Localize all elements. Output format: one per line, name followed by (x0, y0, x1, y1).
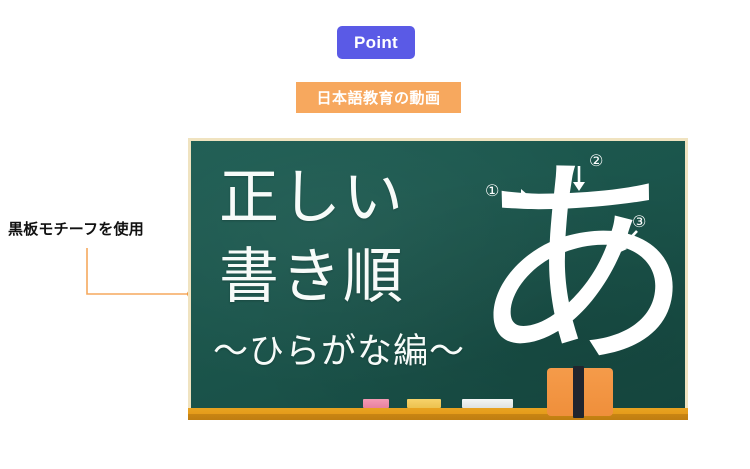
board-ledge (188, 408, 688, 420)
chalk-yellow (407, 399, 441, 408)
point-badge: Point (337, 26, 415, 59)
stroke-arrow-right-icon (504, 185, 530, 205)
stroke-arrow-down-icon (569, 165, 589, 193)
connector-path (87, 248, 189, 294)
board-headline-line-1: 正しい (219, 168, 405, 228)
chalk-white (462, 399, 513, 408)
stroke-arrow-down-left-icon (613, 229, 641, 257)
stroke-marker-3: ③ (632, 214, 646, 230)
board-headline-line-3: 〜ひらがな編〜 (213, 335, 465, 370)
category-badge: 日本語教育の動画 (296, 82, 461, 113)
stroke-marker-1: ① (485, 183, 499, 199)
board-headline-line-2: 書き順 (219, 247, 405, 307)
chalk-pink (363, 399, 389, 408)
blackboard-eraser-strap (573, 366, 584, 418)
stroke-marker-2: ② (589, 153, 603, 169)
chalkboard-thumbnail[interactable]: 正しい 書き順 〜ひらがな編〜 あ ① ② ③ (188, 138, 688, 420)
annotation-connector-line (80, 243, 200, 303)
annotation-label: 黒板モチーフを使用 (8, 218, 144, 239)
